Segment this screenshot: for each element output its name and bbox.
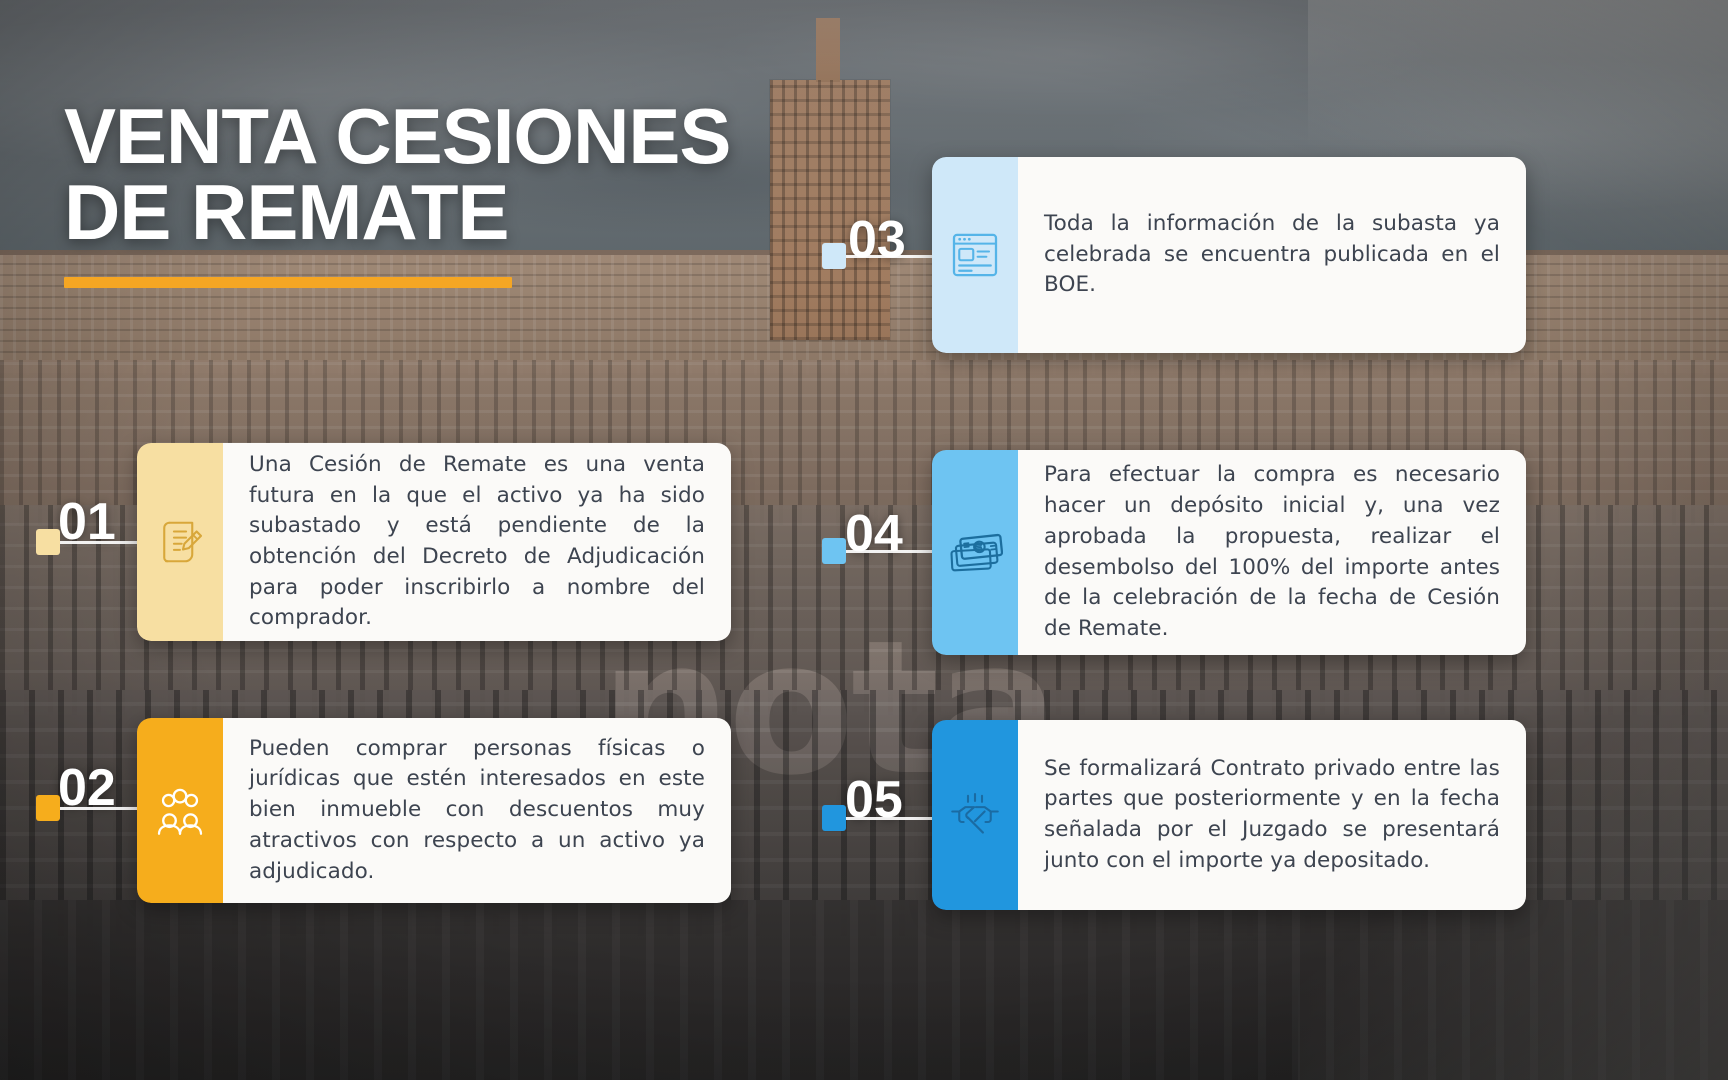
step-connector-02 (36, 795, 140, 821)
banknotes-euro-icon (947, 525, 1003, 581)
step-connector-04 (822, 538, 936, 564)
page-title-line-2: DE REMATE (64, 174, 824, 250)
step-card-02[interactable]: Pueden comprar personas físicas o jurídi… (137, 718, 731, 903)
step-connector-line-04 (846, 550, 936, 553)
scroll-pencil-icon (152, 514, 208, 570)
handshake-icon (947, 787, 1003, 843)
step-connector-square-01 (36, 529, 60, 555)
infographic-slide: nota VENTA CESIONES DE REMATE 01 Una Ces… (0, 0, 1728, 1080)
step-card-03-body: Toda la información de la subasta ya cel… (1018, 157, 1526, 353)
step-connector-line-01 (60, 541, 140, 544)
step-connector-square-02 (36, 795, 60, 821)
step-card-05-icon-tab (932, 720, 1018, 910)
step-connector-05 (822, 805, 936, 831)
browser-window-icon (947, 227, 1003, 283)
step-card-03-icon-tab (932, 157, 1018, 353)
step-card-01[interactable]: Una Cesión de Remate es una venta futura… (137, 443, 731, 641)
step-card-03[interactable]: Toda la información de la subasta ya cel… (932, 157, 1526, 353)
step-connector-square-04 (822, 538, 846, 564)
page-title: VENTA CESIONES DE REMATE (64, 98, 824, 251)
step-card-02-icon-tab (137, 718, 223, 903)
people-group-icon (152, 783, 208, 839)
step-connector-square-05 (822, 805, 846, 831)
title-underline (64, 277, 512, 288)
step-card-04-text: Para efectuar la compra es necesario hac… (1044, 460, 1500, 644)
step-card-05[interactable]: Se formalizará Contrato privado entre la… (932, 720, 1526, 910)
step-card-05-text: Se formalizará Contrato privado entre la… (1044, 754, 1500, 877)
step-card-01-body: Una Cesión de Remate es una venta futura… (223, 443, 731, 641)
step-connector-03 (822, 243, 936, 269)
step-card-04-body: Para efectuar la compra es necesario hac… (1018, 450, 1526, 655)
step-connector-line-03 (846, 255, 936, 258)
step-card-02-text: Pueden comprar personas físicas o jurídi… (249, 734, 705, 888)
step-card-04-icon-tab (932, 450, 1018, 655)
step-connector-01 (36, 529, 140, 555)
step-card-02-body: Pueden comprar personas físicas o jurídi… (223, 718, 731, 903)
step-connector-line-05 (846, 817, 936, 820)
step-card-05-body: Se formalizará Contrato privado entre la… (1018, 720, 1526, 910)
step-card-01-text: Una Cesión de Remate es una venta futura… (249, 450, 705, 634)
step-card-01-icon-tab (137, 443, 223, 641)
step-card-03-text: Toda la información de la subasta ya cel… (1044, 209, 1500, 301)
step-card-04[interactable]: Para efectuar la compra es necesario hac… (932, 450, 1526, 655)
step-connector-line-02 (60, 807, 140, 810)
page-title-line-1: VENTA CESIONES (64, 92, 730, 180)
step-connector-square-03 (822, 243, 846, 269)
